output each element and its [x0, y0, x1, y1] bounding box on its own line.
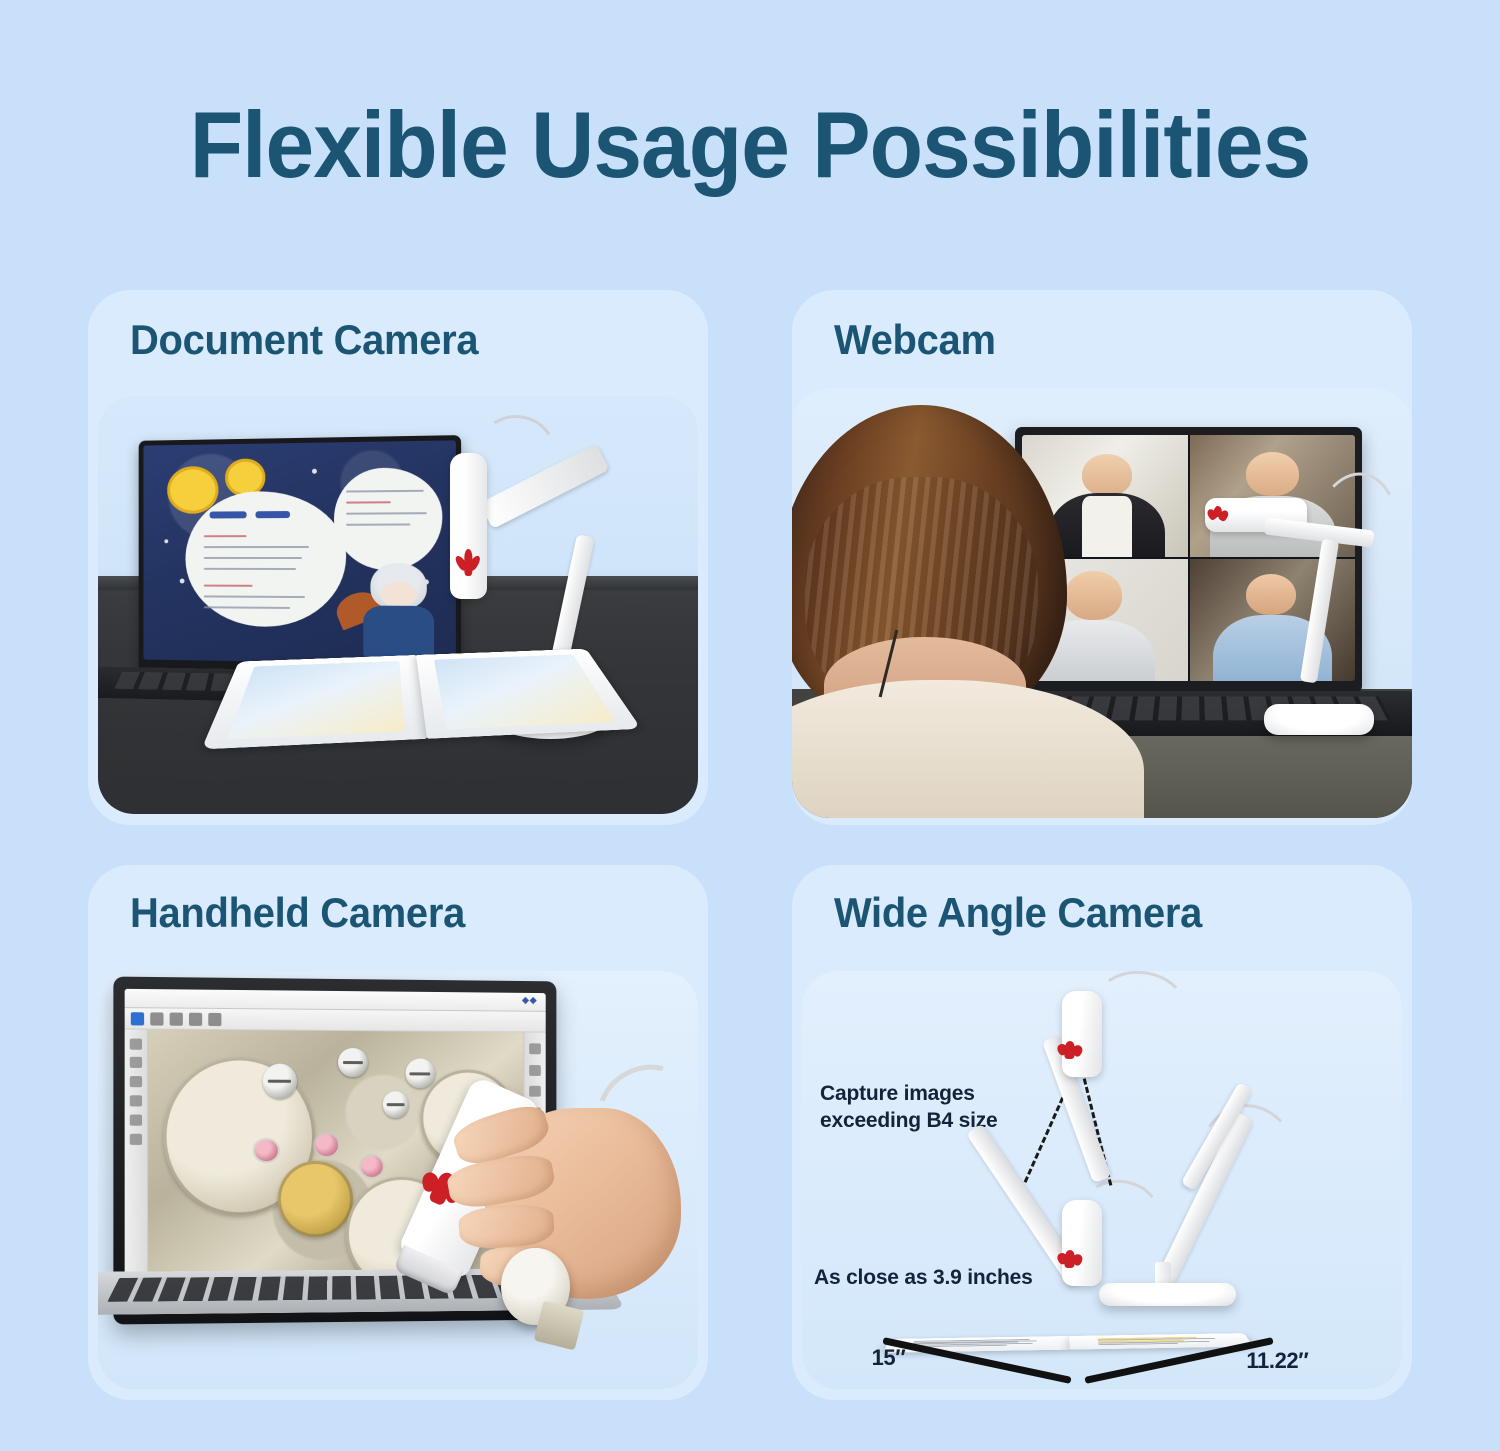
laptop-lid — [139, 435, 461, 675]
person-at-desk — [792, 388, 1102, 818]
card-title-handheld-camera: Handheld Camera — [130, 889, 465, 937]
photo-webcam — [792, 388, 1412, 818]
page-title-scribble — [256, 511, 290, 518]
book-and-measurements: 15″ 11.22″ — [862, 1247, 1342, 1372]
tool-button[interactable] — [130, 1115, 143, 1126]
handheld-camera-scene: ◆◆ — [98, 971, 698, 1389]
storybook-character — [350, 557, 447, 660]
app-brand-mark: ◆◆ — [522, 995, 537, 1006]
dimension-label-width: 15″ — [872, 1345, 906, 1371]
blouse — [792, 680, 1144, 818]
page-title: Flexible Usage Possibilities — [53, 96, 1448, 195]
tool-button[interactable] — [130, 1134, 143, 1145]
text-line — [204, 557, 303, 559]
usage-cards-grid: Document Camera — [88, 290, 1412, 1400]
page-illustration — [434, 655, 615, 730]
eye-icon[interactable] — [131, 1012, 144, 1025]
text-line — [346, 501, 391, 503]
snow-dot — [164, 539, 168, 543]
capture-area-note: Capture images exceeding B4 size — [820, 1080, 998, 1135]
character-body — [363, 606, 434, 662]
card-handheld-camera[interactable]: Handheld Camera ◆◆ — [88, 865, 708, 1400]
wide-angle-camera-scene: Capture images exceeding B4 size As clos… — [802, 971, 1402, 1389]
webcam-device — [1201, 483, 1412, 741]
photo-handheld-camera: ◆◆ — [98, 971, 698, 1389]
text-line — [204, 567, 296, 569]
tool-button[interactable] — [130, 1038, 143, 1049]
capture-area-note-line-1: Capture images — [820, 1080, 998, 1108]
watch-gear — [278, 1162, 353, 1238]
star-badge — [225, 459, 265, 496]
page-title-scribble — [210, 511, 247, 518]
text-line — [346, 512, 426, 515]
card-webcam[interactable]: Webcam — [792, 290, 1412, 825]
webcam-scene — [792, 388, 1412, 818]
logo-petal — [1065, 1049, 1075, 1059]
laptop — [134, 438, 458, 672]
camera-wand-raised — [1062, 991, 1103, 1077]
storybook-page-image — [143, 440, 455, 664]
character-face — [380, 581, 417, 608]
photo-wide-angle-camera: Capture images exceeding B4 size As clos… — [802, 971, 1402, 1389]
speech-bubble-side — [334, 467, 443, 570]
watch-screw — [338, 1048, 368, 1078]
brand-flower-logo — [458, 549, 479, 578]
tool-button[interactable] — [130, 1058, 143, 1069]
tool-button[interactable] — [130, 1077, 143, 1088]
card-title-document-camera: Document Camera — [130, 316, 478, 364]
close-icon[interactable] — [208, 1013, 221, 1026]
card-title-webcam: Webcam — [834, 316, 996, 364]
tool-button[interactable] — [529, 1044, 541, 1055]
camera-wand — [450, 453, 487, 599]
app-left-toolbar[interactable] — [125, 1030, 149, 1304]
book-page-left — [201, 655, 427, 750]
watch-jewel — [360, 1156, 382, 1178]
brand-flower-logo — [1057, 1041, 1082, 1060]
card-wide-angle-camera[interactable]: Wide Angle Camera Capture images exceedi… — [792, 865, 1412, 1400]
watch-jewel — [315, 1134, 338, 1156]
watch-chain — [534, 1300, 585, 1350]
hand-holding-camera — [422, 1071, 686, 1330]
usb-cable — [1089, 971, 1190, 1051]
text-line — [346, 523, 410, 525]
brand-flower-logo — [1207, 506, 1227, 525]
photo-document-camera — [98, 396, 698, 814]
document-camera-scene — [98, 396, 698, 814]
snow-dot — [312, 469, 317, 474]
play-icon[interactable] — [150, 1012, 163, 1025]
pencil-icon[interactable] — [170, 1012, 183, 1025]
card-title-wide-angle-camera: Wide Angle Camera — [834, 889, 1202, 937]
crop-icon[interactable] — [189, 1013, 202, 1026]
page-illustration — [228, 661, 405, 740]
laptop-screen — [143, 440, 455, 664]
dimension-label-depth: 11.22″ — [1246, 1348, 1308, 1374]
tool-button[interactable] — [130, 1096, 143, 1107]
text-line — [204, 546, 309, 548]
logo-petal — [464, 562, 472, 577]
watch-screw — [383, 1091, 409, 1118]
snow-dot — [179, 578, 184, 583]
watch-screw — [263, 1064, 297, 1099]
card-document-camera[interactable]: Document Camera — [88, 290, 708, 825]
text-line — [204, 535, 247, 537]
stand-base — [1264, 704, 1374, 735]
